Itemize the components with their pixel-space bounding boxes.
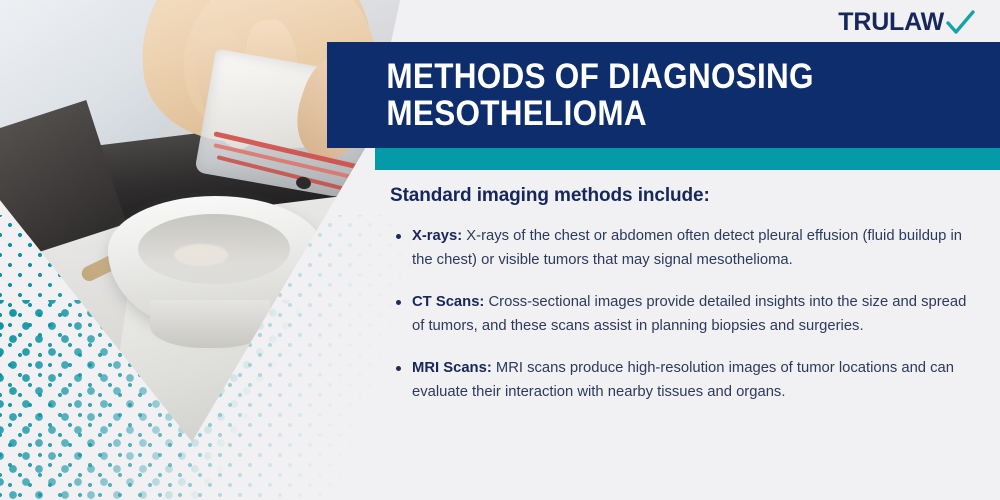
content-column: Standard imaging methods include: X-rays… — [390, 185, 978, 405]
subheading: Standard imaging methods include: — [390, 185, 978, 207]
infographic-canvas: TRULAW Methods of Diagnosing Mesotheliom… — [0, 0, 1000, 500]
list-item-label: MRI Scans: — [412, 360, 492, 376]
logo-wordmark: TRULAW — [838, 8, 944, 37]
list-item-text: MRI scans produce high-resolution images… — [412, 360, 954, 400]
list-item: MRI Scans: MRI scans produce high-resolu… — [390, 357, 978, 405]
check-icon — [946, 10, 976, 36]
imaging-methods-list: X-rays: X-rays of the chest or abdomen o… — [390, 225, 978, 405]
list-item: X-rays: X-rays of the chest or abdomen o… — [390, 225, 978, 273]
page-title: Methods of Diagnosing Mesothelioma — [327, 58, 933, 133]
list-item-text: X-rays of the chest or abdomen often det… — [412, 228, 962, 268]
teal-accent-bar — [375, 148, 1000, 170]
list-item-text: Cross-sectional images provide detailed … — [412, 294, 966, 334]
trulaw-logo[interactable]: TRULAW — [838, 8, 976, 37]
list-item: CT Scans: Cross-sectional images provide… — [390, 291, 978, 339]
list-item-label: CT Scans: — [412, 294, 484, 310]
title-banner: Methods of Diagnosing Mesothelioma — [327, 42, 1000, 148]
list-item-label: X-rays: — [412, 228, 462, 244]
